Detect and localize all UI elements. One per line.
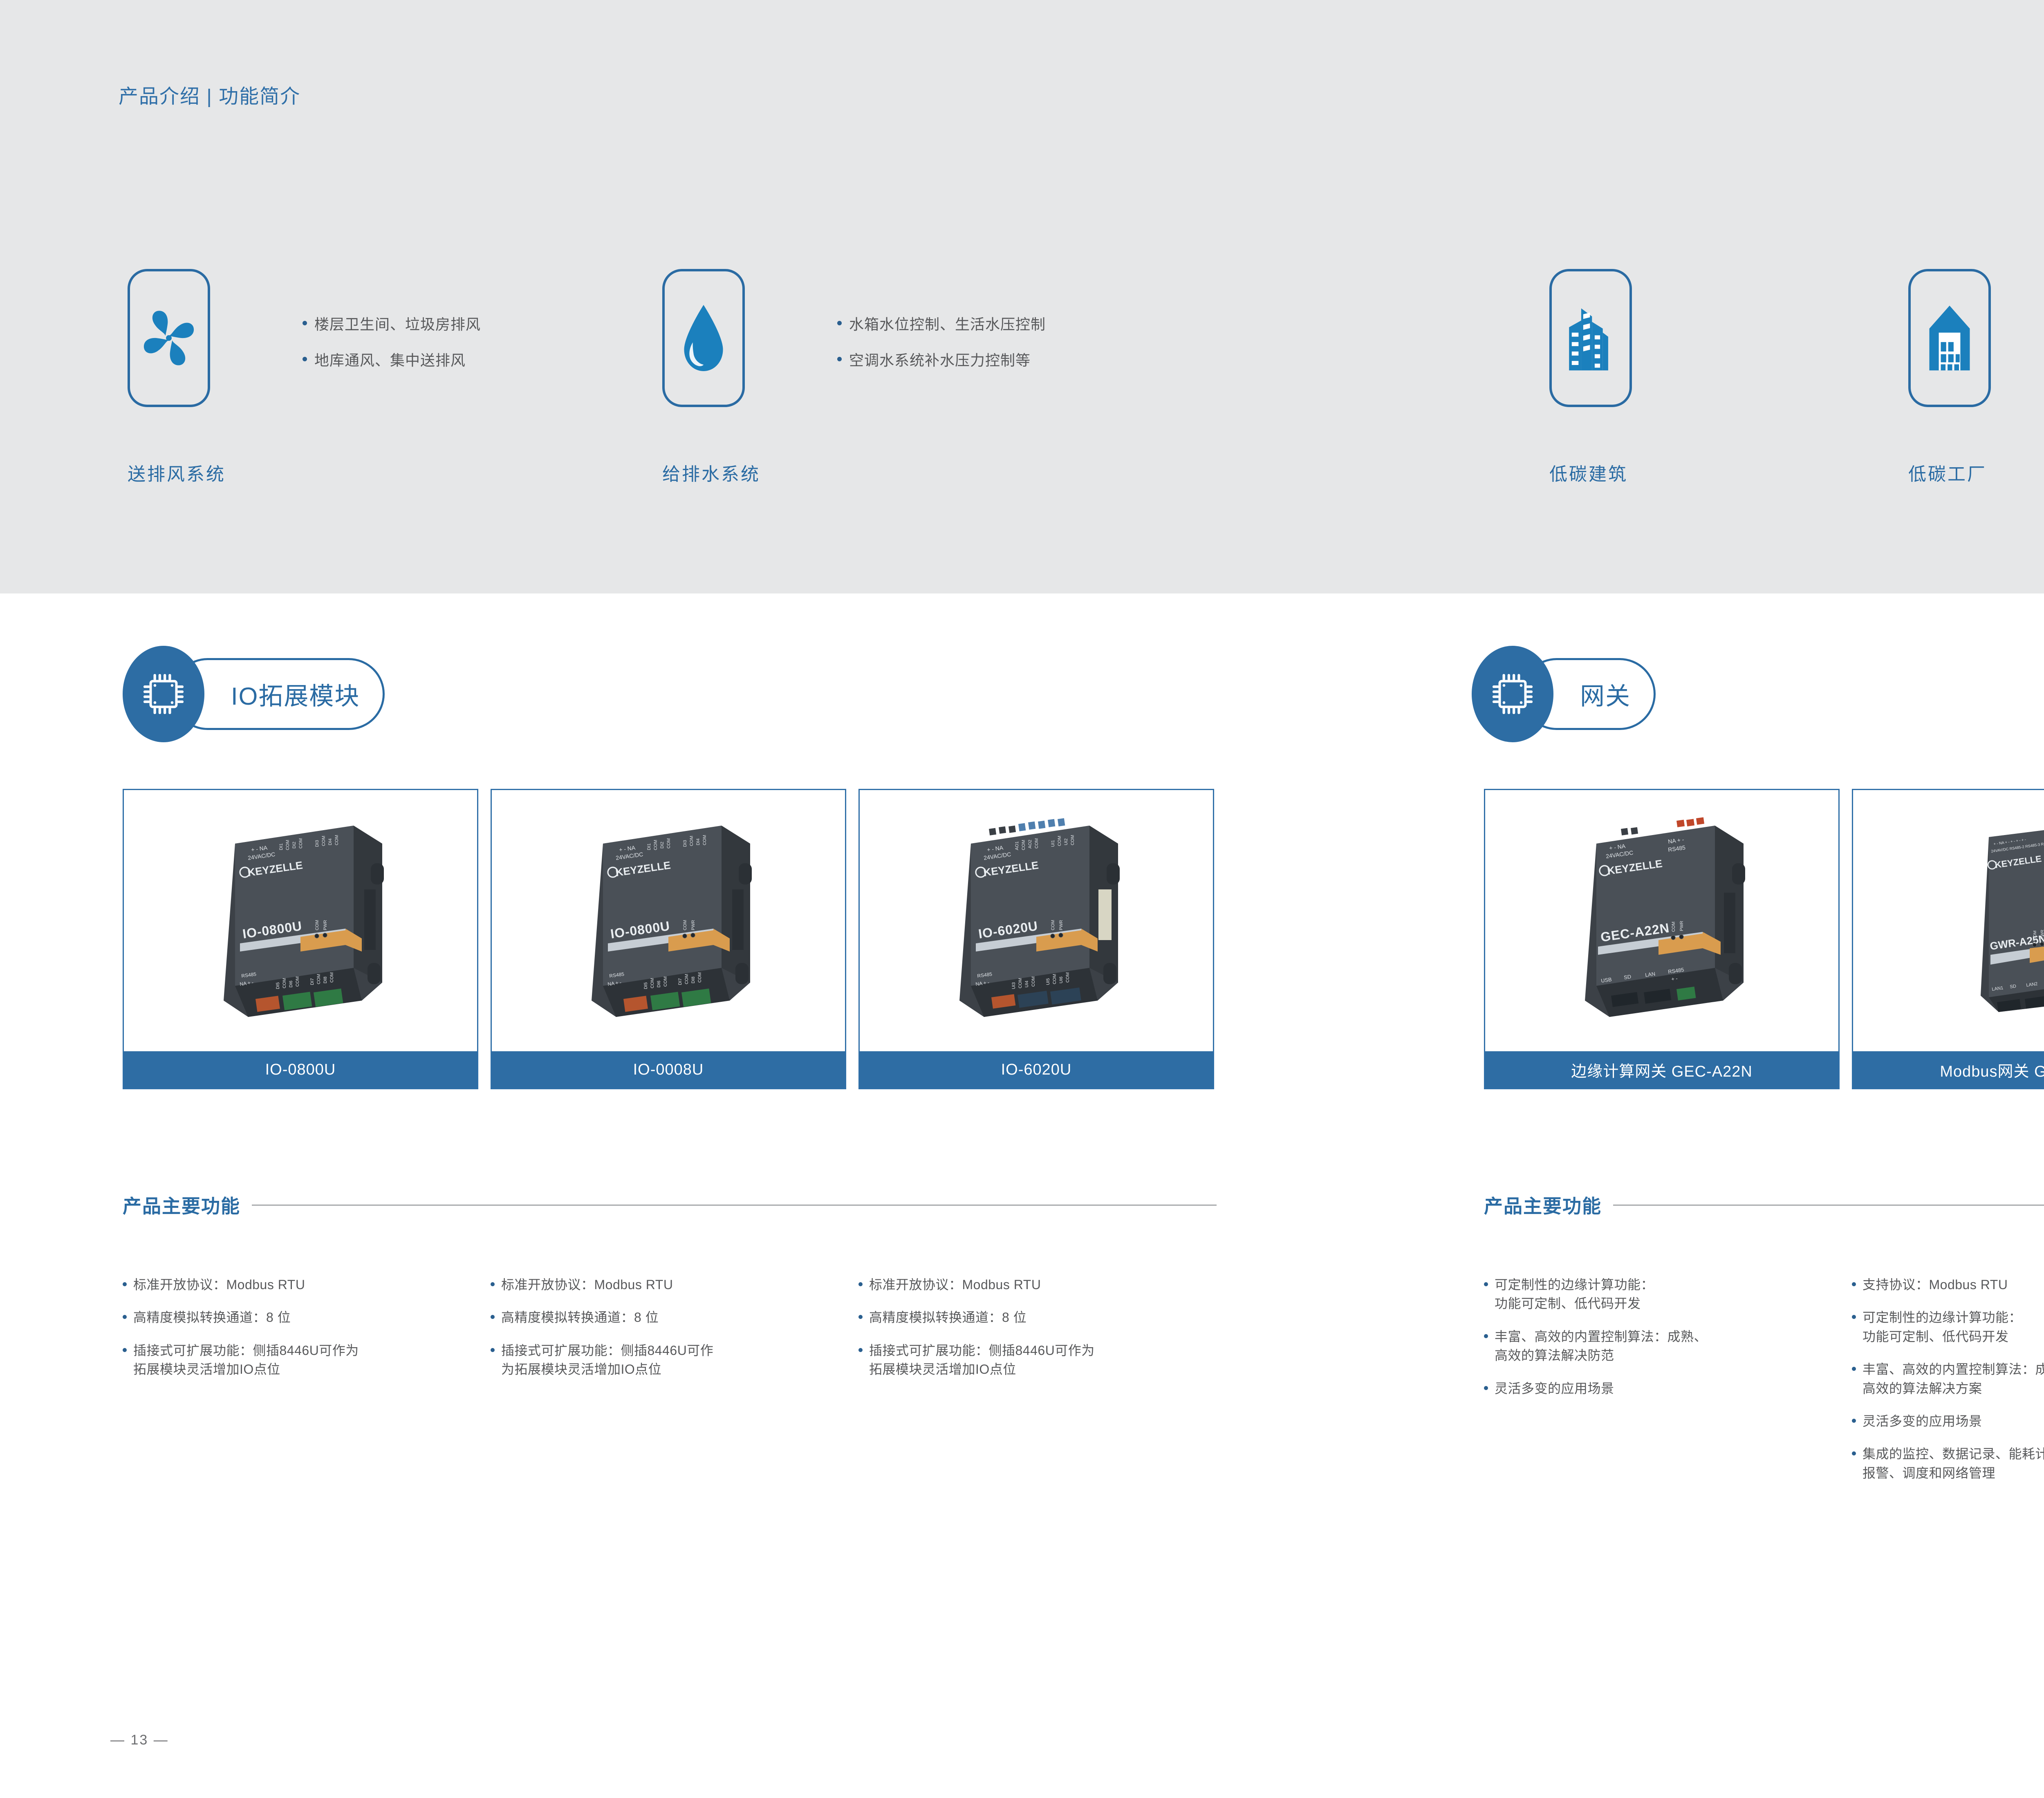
svg-text:SD: SD [1623,973,1632,980]
svg-text:UI2: UI2 [1064,838,1069,845]
water-system-bullets: 水箱水位控制、生活水压控制 空调水系统补水压力控制等 [837,317,1046,368]
features-heading-gateway: 产品主要功能 [1484,1191,2044,1218]
chip-icon-badge [123,646,204,742]
feature-text: 标准开放协议：Modbus RTU [501,1275,673,1294]
svg-text:COM: COM [666,838,671,848]
svg-text:PWR: PWR [691,920,696,930]
svg-text:COM: COM [1018,978,1023,988]
svg-text:COM: COM [683,920,688,930]
bullet-dot-icon [858,1348,863,1352]
bullet-dot-icon [1484,1334,1488,1338]
low-carbon-building-caption: 低碳建筑 [1549,459,1628,486]
features-heading-io: 产品主要功能 [123,1191,1214,1218]
chip-icon [141,671,186,717]
list-item: 灵活多变的应用场景 [1852,1412,2044,1431]
svg-text:DI1: DI1 [647,843,652,850]
svg-text:COM: COM [1031,976,1036,986]
feature-column: 支持协议：Modbus RTU 可定制性的边缘计算功能： 功能可定制、低代码开发… [1852,1275,2044,1496]
list-item: 可定制性的边缘计算功能： 功能可定制、低代码开发 [1852,1308,2044,1346]
svg-text:DI6: DI6 [289,981,294,987]
svg-text:DI3: DI3 [683,840,688,847]
feature-column: 标准开放协议：Modbus RTU 高精度模拟转换通道：8 位 插接式可扩展功能… [123,1275,482,1393]
svg-text:DI4: DI4 [696,838,701,845]
svg-text:DI2: DI2 [292,842,297,849]
list-item: 高精度模拟转换通道：8 位 [491,1308,850,1327]
gateway-device-image: + - NA + - + - + - + - 24VAV/DC RS485-2 … [1899,808,2044,1037]
bullet-dot-icon [491,1315,495,1319]
product-card[interactable]: + - NA + - + - + - + - 24VAV/DC RS485-2 … [1852,789,2044,1089]
bullet-dot-icon [858,1315,863,1319]
bullet-text: 地库通风、集中送排风 [314,353,466,368]
product-card[interactable]: + - NA 24VAC/DC KEYZELLE AO1 COM AO2 COM… [858,789,1214,1089]
list-item: 插接式可扩展功能：侧插8446U可作为 拓展模块灵活增加IO点位 [858,1341,1218,1379]
top-gray-band [0,0,2044,593]
list-item: 高精度模拟转换通道：8 位 [123,1308,482,1327]
svg-text:COM: COM [334,835,339,845]
bullet-text: 楼层卫生间、垃圾房排风 [314,317,481,332]
feature-text: 灵活多变的应用场景 [1862,1412,1982,1431]
svg-text:DI5: DI5 [643,982,648,989]
svg-text:COM: COM [1070,835,1075,845]
feature-text: 标准开放协议：Modbus RTU [133,1275,305,1294]
header-left-title: 产品介绍 | 功能简介 [119,80,300,109]
features-title: 产品主要功能 [1484,1191,1602,1218]
svg-text:COM: COM [1671,921,1676,931]
feature-text: 灵活多变的应用场景 [1495,1379,1614,1398]
list-item: 标准开放协议：Modbus RTU [858,1275,1218,1294]
svg-text:COM: COM [663,976,668,986]
svg-text:COM: COM [702,835,707,845]
svg-text:DI8: DI8 [323,976,328,983]
svg-text:UI6: UI6 [1059,976,1064,983]
product-card[interactable]: + - NA 24VAC/DC NA + - RS485 KEYZELLE GE… [1484,789,1840,1089]
bullet-text: 空调水系统补水压力控制等 [849,353,1031,368]
svg-text:DI7: DI7 [678,978,683,985]
list-item: 地库通风、集中送排风 [303,353,481,368]
svg-text:UI4: UI4 [1024,981,1029,987]
list-item: 插接式可扩展功能：侧插8446U可作 为拓展模块灵活增加IO点位 [491,1341,850,1379]
svg-text:COM: COM [282,978,287,988]
bullet-dot-icon [1852,1367,1856,1371]
list-item: 标准开放协议：Modbus RTU [491,1275,850,1294]
bullet-dot-icon [1852,1282,1856,1286]
features-title: 产品主要功能 [123,1191,240,1218]
list-item: 高精度模拟转换通道：8 位 [858,1308,1218,1327]
svg-text:COM: COM [315,920,320,930]
list-item: 插接式可扩展功能：侧插8446U可作为 拓展模块灵活增加IO点位 [123,1341,482,1379]
bullet-dot-icon [123,1315,127,1319]
svg-text:COM: COM [295,976,300,986]
bullet-dot-icon [303,321,307,325]
svg-text:COM: COM [650,978,655,988]
low-carbon-factory-tile [1908,269,1991,407]
factory-icon [1923,297,1977,379]
brochure-page: 产品介绍 | 功能简介 产品介绍 | 功能简介 送排风系统 楼层卫生间、垃圾房排… [0,0,2044,1798]
svg-text:COM: COM [1034,838,1039,848]
feature-text: 插接式可扩展功能：侧插8446U可作 为拓展模块灵活增加IO点位 [501,1341,713,1379]
svg-text:COM: COM [298,838,303,848]
feature-text: 标准开放协议：Modbus RTU [869,1275,1041,1294]
list-item: 灵活多变的应用场景 [1484,1379,1844,1398]
svg-text:DI3: DI3 [315,840,320,847]
svg-text:COM: COM [697,972,702,982]
svg-text:AO2: AO2 [1028,840,1033,849]
product-label: IO-0800U [124,1051,477,1088]
water-system-tile [662,269,745,407]
svg-text:COM: COM [689,835,694,846]
section-title-io: IO拓展模块 [231,676,360,712]
svg-text:COM: COM [1021,840,1026,850]
bullet-dot-icon [303,357,307,361]
io-module-device-image: + - NA 24VAC/DC KEYZELLE DI1 COM DI2 COM… [170,808,431,1037]
gateway-device-image: + - NA 24VAC/DC NA + - RS485 KEYZELLE GE… [1531,808,1793,1037]
svg-text:COM: COM [329,972,334,982]
svg-text:DI6: DI6 [657,981,661,987]
feature-column: 标准开放协议：Modbus RTU 高精度模拟转换通道：8 位 插接式可扩展功能… [858,1275,1218,1393]
office-building-icon [1564,297,1618,379]
svg-text:DI7: DI7 [310,978,315,985]
svg-text:PWR: PWR [2040,929,2044,939]
svg-text:DI2: DI2 [660,842,665,849]
low-carbon-building-tile [1549,269,1632,407]
svg-text:COM: COM [321,835,326,846]
svg-text:COM: COM [285,840,290,850]
feature-text: 可定制性的边缘计算功能： 功能可定制、低代码开发 [1495,1275,1654,1313]
fan-icon [140,307,197,369]
product-card[interactable]: + - NA 24VAC/DC KEYZELLE DI1 COM DI2 COM… [491,789,846,1089]
product-label: IO-0008U [492,1051,845,1088]
product-label: Modbus网关 GWR-A25N [1853,1051,2044,1088]
bullet-dot-icon [1852,1451,1856,1455]
feature-text: 高精度模拟转换通道：8 位 [501,1308,659,1327]
feature-text: 丰富、高效的内置控制算法：成熟、 高效的算法解决防范 [1495,1327,1707,1365]
product-label: 边缘计算网关 GEC-A22N [1485,1051,1838,1088]
chip-icon-badge [1472,646,1553,742]
svg-text:DI8: DI8 [691,976,696,983]
feature-text: 丰富、高效的内置控制算法：成熟、 高效的算法解决方案 [1862,1360,2044,1398]
svg-text:COM: COM [1057,835,1062,846]
list-item: 空调水系统补水压力控制等 [837,353,1046,368]
divider-rule [252,1205,1217,1206]
fan-system-caption: 送排风系统 [128,459,226,486]
bullet-dot-icon [837,321,842,325]
feature-column: 可定制性的边缘计算功能： 功能可定制、低代码开发 丰富、高效的内置控制算法：成熟… [1484,1275,1844,1412]
svg-text:AO1: AO1 [1015,841,1020,850]
svg-text:COM: COM [1065,972,1070,982]
fan-system-bullets: 楼层卫生间、垃圾房排风 地库通风、集中送排风 [303,317,481,368]
list-item: 丰富、高效的内置控制算法：成熟、 高效的算法解决方案 [1852,1360,2044,1398]
bullet-dot-icon [1852,1419,1856,1423]
product-image: + - NA 24VAC/DC KEYZELLE AO1 COM AO2 COM… [860,790,1213,1054]
low-carbon-factory-caption: 低碳工厂 [1908,459,1987,486]
bullet-dot-icon [1484,1386,1488,1390]
svg-text:COM: COM [684,974,689,984]
product-image: + - NA 24VAC/DC KEYZELLE DI1 COM DI2 COM… [492,790,845,1054]
svg-text:+ -: + - [1671,975,1678,982]
feature-text: 高精度模拟转换通道：8 位 [869,1308,1026,1327]
svg-text:PWR: PWR [323,920,328,930]
divider-rule [1613,1205,2044,1206]
product-label: IO-6020U [860,1051,1213,1088]
section-title-gateway: 网关 [1580,676,1631,712]
svg-text:COM: COM [2033,930,2037,940]
io-module-device-image: + - NA 24VAC/DC KEYZELLE DI1 COM DI2 COM… [538,808,799,1037]
svg-text:DI4: DI4 [328,838,333,845]
feature-column: 标准开放协议：Modbus RTU 高精度模拟转换通道：8 位 插接式可扩展功能… [491,1275,850,1393]
feature-text: 集成的监控、数据记录、能耗计量、 报警、调度和网络管理 [1862,1444,2044,1482]
water-drop-icon [678,302,729,374]
list-item: 集成的监控、数据记录、能耗计量、 报警、调度和网络管理 [1852,1444,2044,1482]
section-header-gateways: 网关 [1472,646,1733,744]
feature-text: 插接式可扩展功能：侧插8446U可作为 拓展模块灵活增加IO点位 [869,1341,1095,1379]
list-item: 水箱水位控制、生活水压控制 [837,317,1046,332]
bullet-dot-icon [491,1348,495,1352]
bullet-dot-icon [491,1282,495,1286]
io-module-device-image: + - NA 24VAC/DC KEYZELLE AO1 COM AO2 COM… [905,808,1167,1037]
svg-text:DI1: DI1 [279,843,284,850]
list-item: 标准开放协议：Modbus RTU [123,1275,482,1294]
bullet-dot-icon [1484,1282,1488,1286]
svg-text:SD: SD [2010,983,2017,989]
product-image: + - NA 24VAC/DC KEYZELLE DI1 COM DI2 COM… [124,790,477,1054]
svg-text:COM: COM [1051,920,1056,930]
bullet-dot-icon [1852,1315,1856,1319]
product-image: + - NA 24VAC/DC NA + - RS485 KEYZELLE GE… [1485,790,1838,1054]
svg-text:COM: COM [653,840,658,850]
bullet-dot-icon [123,1348,127,1352]
list-item: 支持协议：Modbus RTU [1852,1275,2044,1294]
section-header-io-modules: IO拓展模块 [123,646,433,744]
bullet-dot-icon [123,1282,127,1286]
svg-text:UI1: UI1 [1051,840,1056,847]
feature-text: 高精度模拟转换通道：8 位 [133,1308,291,1327]
feature-text: 可定制性的边缘计算功能： 功能可定制、低代码开发 [1862,1308,2022,1346]
svg-text:COM: COM [316,974,321,984]
list-item: 可定制性的边缘计算功能： 功能可定制、低代码开发 [1484,1275,1844,1313]
svg-text:UI3: UI3 [1011,982,1016,989]
feature-text: 插接式可扩展功能：侧插8446U可作为 拓展模块灵活增加IO点位 [133,1341,359,1379]
list-item: 楼层卫生间、垃圾房排风 [303,317,481,332]
fan-system-tile [128,269,210,407]
svg-text:PWR: PWR [1059,920,1064,930]
product-card[interactable]: + - NA 24VAC/DC KEYZELLE DI1 COM DI2 COM… [123,789,478,1089]
water-system-caption: 给排水系统 [662,459,760,486]
list-item: 丰富、高效的内置控制算法：成熟、 高效的算法解决防范 [1484,1327,1844,1365]
svg-text:COM: COM [1052,974,1057,984]
svg-text:PWR: PWR [1679,920,1684,931]
page-number-left: — 13 — [110,1732,169,1748]
product-image: + - NA + - + - + - + - 24VAV/DC RS485-2 … [1853,790,2044,1054]
svg-text:DI5: DI5 [276,982,280,989]
bullet-text: 水箱水位控制、生活水压控制 [849,317,1046,332]
bullet-dot-icon [837,357,842,361]
chip-icon [1490,671,1535,717]
feature-text: 支持协议：Modbus RTU [1862,1275,2008,1294]
svg-text:UI5: UI5 [1046,978,1051,985]
bullet-dot-icon [858,1282,863,1286]
